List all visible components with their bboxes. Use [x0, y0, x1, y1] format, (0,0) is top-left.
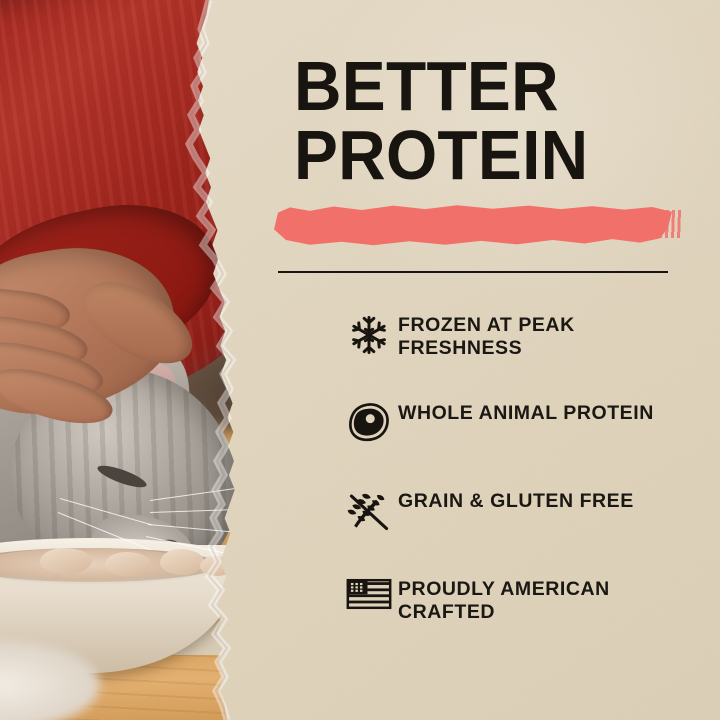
list-item: FROZEN AT PEAK FRESHNESS [340, 312, 700, 400]
headline-line-2: PROTEIN [294, 121, 670, 190]
feature-label: GRAIN & GLUTEN FREE [398, 488, 700, 513]
brush-underline [274, 203, 672, 247]
list-item: GRAIN & GLUTEN FREE [340, 488, 700, 576]
list-item: PROUDLY AMERICAN CRAFTED [340, 576, 700, 664]
headline-line-1: BETTER [294, 52, 670, 121]
snowflake-icon [340, 312, 398, 356]
feature-label: WHOLE ANIMAL PROTEIN [398, 400, 700, 425]
promo-graphic: BETTER PROTEIN [0, 0, 720, 720]
feature-label: PROUDLY AMERICAN CRAFTED [398, 576, 700, 624]
section-divider [278, 271, 668, 273]
list-item: WHOLE ANIMAL PROTEIN [340, 400, 700, 488]
steak-icon [340, 400, 398, 442]
brush-underline-tail [648, 210, 682, 238]
page-title: BETTER PROTEIN [294, 52, 670, 189]
wheat-crossed-icon [340, 488, 398, 532]
feature-label: FROZEN AT PEAK FRESHNESS [398, 312, 700, 360]
feature-list: FROZEN AT PEAK FRESHNESS WHOLE ANIMAL PR… [340, 312, 700, 664]
usa-flag-icon [340, 576, 398, 610]
panel-content: BETTER PROTEIN [0, 0, 720, 720]
